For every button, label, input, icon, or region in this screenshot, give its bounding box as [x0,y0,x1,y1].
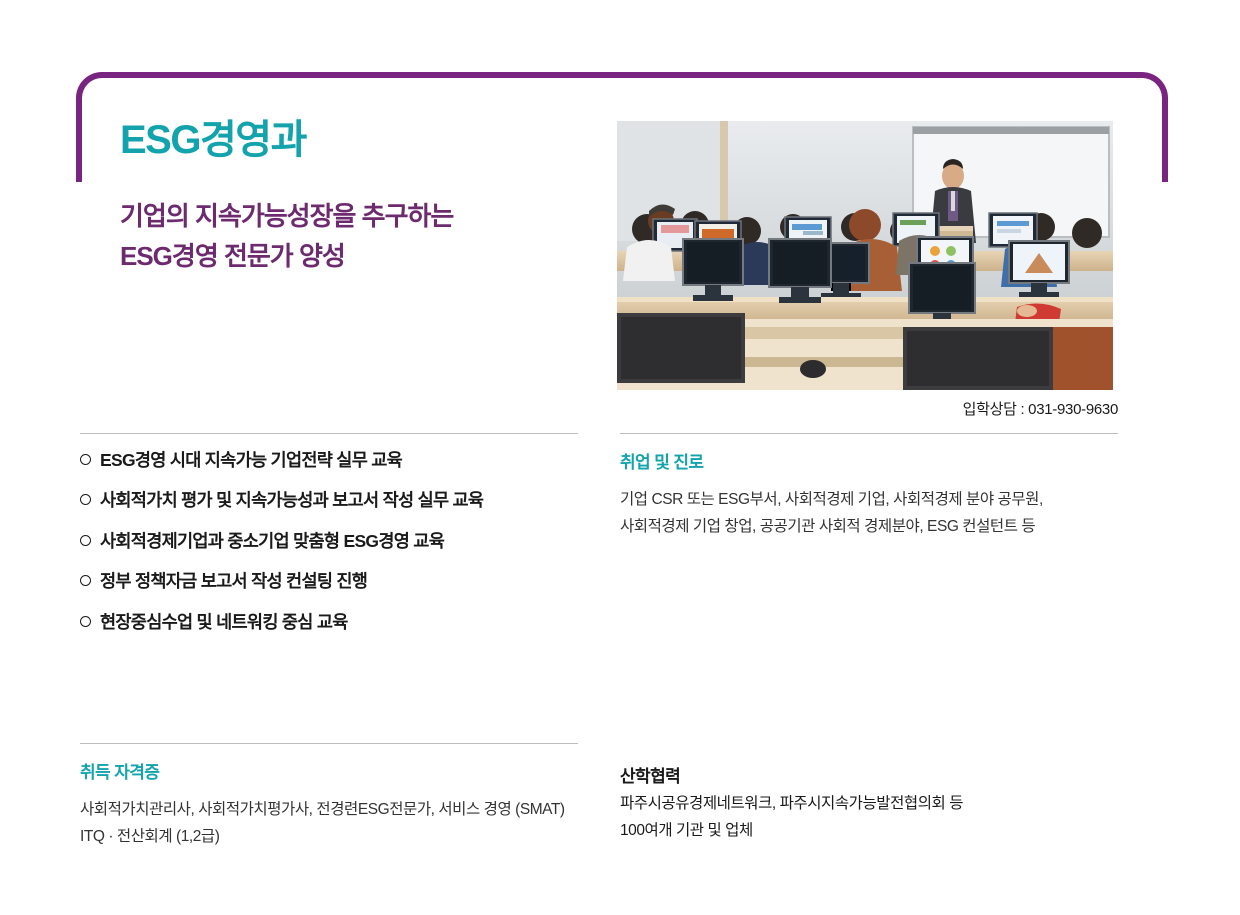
career-section: 취업 및 진로 기업 CSR 또는 ESG부서, 사회적경제 기업, 사회적경제… [620,448,1130,540]
list-item-label: 현장중심수업 및 네트워킹 중심 교육 [100,610,348,635]
list-item-label: 정부 정책자금 보고서 작성 컨설팅 진행 [100,569,367,594]
industry-cooperation-heading: 산학협력 [620,762,1120,787]
certificates-section: 취득 자격증 사회적가치관리사, 사회적가치평가사, 전경련ESG전문가, 서비… [80,758,600,850]
classroom-photo [617,121,1113,390]
industry-cooperation-section: 산학협력 파주시공유경제네트워크, 파주시지속가능발전협의회 등 100여개 기… [620,762,1120,844]
divider-career [620,433,1118,434]
career-body: 기업 CSR 또는 ESG부서, 사회적경제 기업, 사회적경제 분야 공무원,… [620,487,1130,540]
divider-features [80,433,578,434]
certificates-body: 사회적가치관리사, 사회적가치평가사, 전경련ESG전문가, 서비스 경영 (S… [80,797,600,850]
industry-cooperation-body: 파주시공유경제네트워크, 파주시지속가능발전협의회 등 100여개 기관 및 업… [620,791,1120,844]
list-item-label: ESG경영 시대 지속가능 기업전략 실무 교육 [100,448,402,473]
classroom-photo-illustration [617,121,1113,390]
list-item: 사회적경제기업과 중소기업 맞춤형 ESG경영 교육 [80,529,600,554]
divider-certificates [80,743,578,744]
admission-contact-caption: 입학상담 : 031-930-9630 [718,398,1118,419]
circle-outline-icon [80,575,91,586]
certificates-heading: 취득 자격증 [80,758,600,783]
list-item: 현장중심수업 및 네트워킹 중심 교육 [80,610,600,635]
circle-outline-icon [80,535,91,546]
circle-outline-icon [80,616,91,627]
page-title: ESG경영과 [120,118,306,162]
features-list: ESG경영 시대 지속가능 기업전략 실무 교육 사회적가치 평가 및 지속가능… [80,448,600,650]
list-item: 정부 정책자금 보고서 작성 컨설팅 진행 [80,569,600,594]
circle-outline-icon [80,454,91,465]
list-item-label: 사회적가치 평가 및 지속가능성과 보고서 작성 실무 교육 [100,488,483,513]
list-item: ESG경영 시대 지속가능 기업전략 실무 교육 [80,448,600,473]
career-heading: 취업 및 진로 [620,448,1130,473]
list-item: 사회적가치 평가 및 지속가능성과 보고서 작성 실무 교육 [80,488,600,513]
list-item-label: 사회적경제기업과 중소기업 맞춤형 ESG경영 교육 [100,529,444,554]
department-tagline: 기업의 지속가능성장을 추구하는 ESG경영 전문가 양성 [120,196,453,277]
circle-outline-icon [80,494,91,505]
